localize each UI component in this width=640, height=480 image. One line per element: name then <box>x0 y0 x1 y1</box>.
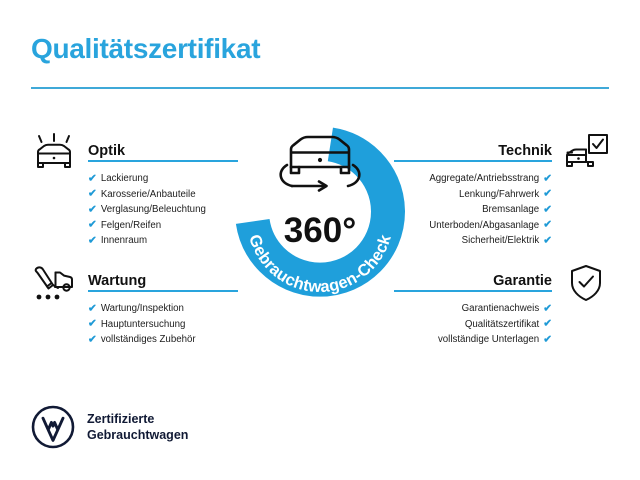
section-divider <box>88 160 238 162</box>
section-divider <box>88 290 238 292</box>
section-head: Technik <box>391 136 609 162</box>
list-item: ✔ vollständiges Zubehör <box>88 332 241 348</box>
check-icon: ✔ <box>88 319 97 330</box>
certificate-page: Qualitätszertifikat Optik ✔ Lackie <box>0 0 640 480</box>
footer-line-2: Gebrauchtwagen <box>87 428 188 442</box>
section-optik: Optik ✔ Lackierung ✔ Karosserie/Anbautei… <box>31 136 241 249</box>
check-icon: ✔ <box>543 319 552 330</box>
list-item-label: Lenkung/Fahrwerk <box>459 187 539 203</box>
list-item: Garantienachweis ✔ <box>391 301 552 317</box>
list-item-label: Aggregate/Antriebsstrang <box>429 171 539 187</box>
badge-360-gebrauchtwagen-check: Gebrauchtwagen-Check 360° <box>229 119 411 311</box>
list-item-label: Qualitätszertifikat <box>465 317 539 333</box>
check-icon: ✔ <box>543 334 552 345</box>
check-icon: ✔ <box>543 303 552 314</box>
check-icon: ✔ <box>88 303 97 314</box>
list-item: vollständige Unterlagen ✔ <box>391 332 552 348</box>
section-garantie: Garantie Garantienachweis ✔ Qualitätszer… <box>391 266 609 348</box>
check-icon: ✔ <box>88 204 97 215</box>
list-item: ✔ Hauptuntersuchung <box>88 317 241 333</box>
section-wartung: Wartung ✔ Wartung/Inspektion ✔ Hauptunte… <box>31 266 241 348</box>
list-item: Aggregate/Antriebsstrang ✔ <box>391 171 552 187</box>
section-head: Optik <box>31 136 241 162</box>
checklist: Aggregate/Antriebsstrang ✔ Lenkung/Fahrw… <box>391 171 552 249</box>
list-item: Sicherheit/Elektrik ✔ <box>391 233 552 249</box>
section-head: Wartung <box>31 266 241 292</box>
header-divider <box>31 87 609 89</box>
list-item: ✔ Verglasung/Beleuchtung <box>88 202 241 218</box>
section-divider <box>394 160 552 162</box>
list-item: ✔ Lackierung <box>88 171 241 187</box>
list-item-label: Lackierung <box>101 171 148 187</box>
list-item: ✔ Felgen/Reifen <box>88 218 241 234</box>
list-item-label: Hauptuntersuchung <box>101 317 186 333</box>
checklist: ✔ Wartung/Inspektion ✔ Hauptuntersuchung… <box>88 301 241 348</box>
check-icon: ✔ <box>543 189 552 200</box>
list-item: Qualitätszertifikat ✔ <box>391 317 552 333</box>
check-icon: ✔ <box>88 173 97 184</box>
section-head: Garantie <box>391 266 609 292</box>
check-icon: ✔ <box>543 173 552 184</box>
checklist: Garantienachweis ✔ Qualitätszertifikat ✔… <box>391 301 552 348</box>
list-item-label: Karosserie/Anbauteile <box>101 187 196 203</box>
check-icon: ✔ <box>543 235 552 246</box>
check-icon: ✔ <box>543 220 552 231</box>
check-icon: ✔ <box>88 235 97 246</box>
list-item: Unterboden/Abgasanlage ✔ <box>391 218 552 234</box>
list-item: ✔ Karosserie/Anbauteile <box>88 187 241 203</box>
section-title: Garantie <box>493 273 552 289</box>
check-icon: ✔ <box>88 189 97 200</box>
footer-text: Zertifizierte Gebrauchtwagen <box>87 411 188 443</box>
section-divider <box>394 290 552 292</box>
list-item-label: Verglasung/Beleuchtung <box>101 202 206 218</box>
section-title: Optik <box>88 143 125 159</box>
section-title: Wartung <box>88 273 146 289</box>
list-item-label: Garantienachweis <box>462 301 540 317</box>
footer-line-1: Zertifizierte <box>87 412 154 426</box>
vw-logo-icon <box>31 405 75 449</box>
list-item-label: Bremsanlage <box>482 202 539 218</box>
badge-center-label: 360° <box>284 211 356 250</box>
footer-brand: Zertifizierte Gebrauchtwagen <box>31 405 188 449</box>
page-title: Qualitätszertifikat <box>31 33 260 65</box>
list-item: Lenkung/Fahrwerk ✔ <box>391 187 552 203</box>
list-item-label: vollständiges Zubehör <box>101 332 196 348</box>
check-icon: ✔ <box>543 204 552 215</box>
list-item-label: Innenraum <box>101 233 147 249</box>
section-technik: Technik Aggregate/Antriebsstrang ✔ Lenku… <box>391 136 609 249</box>
list-item-label: vollständige Unterlagen <box>438 332 539 348</box>
list-item-label: Wartung/Inspektion <box>101 301 184 317</box>
checklist: ✔ Lackierung ✔ Karosserie/Anbauteile ✔ V… <box>88 171 241 249</box>
list-item: ✔ Innenraum <box>88 233 241 249</box>
list-item: ✔ Wartung/Inspektion <box>88 301 241 317</box>
check-icon: ✔ <box>88 334 97 345</box>
list-item-label: Sicherheit/Elektrik <box>462 233 540 249</box>
list-item-label: Unterboden/Abgasanlage <box>429 218 539 234</box>
check-icon: ✔ <box>88 220 97 231</box>
list-item-label: Felgen/Reifen <box>101 218 161 234</box>
section-title: Technik <box>498 143 552 159</box>
list-item: Bremsanlage ✔ <box>391 202 552 218</box>
